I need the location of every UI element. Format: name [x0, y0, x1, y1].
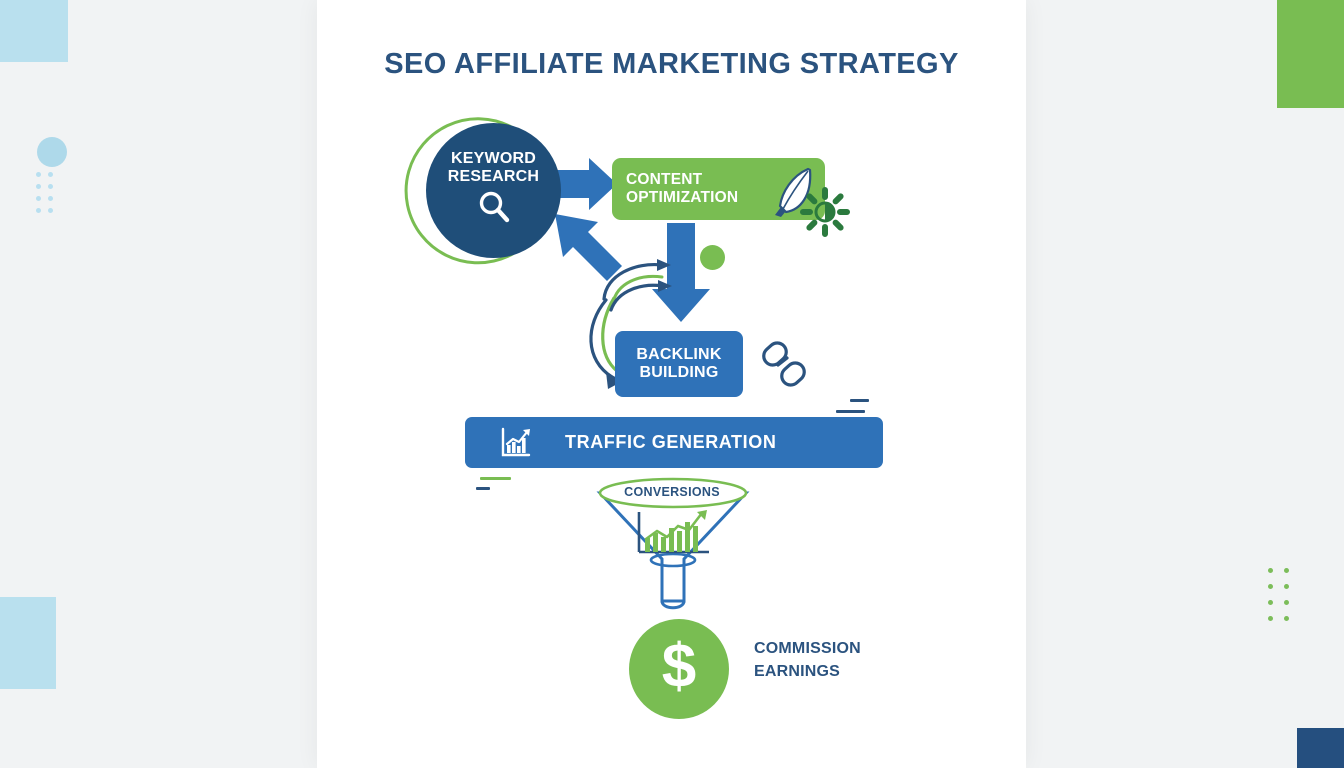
decoration-circle-left	[37, 137, 67, 167]
content-optimization-label-line2: OPTIMIZATION	[626, 189, 738, 207]
funnel-neck	[651, 554, 695, 566]
decoration-dash-navy-3	[476, 487, 490, 490]
decoration-square-top-right	[1277, 0, 1344, 108]
funnel-body	[600, 493, 746, 601]
dot	[1284, 568, 1289, 573]
dot	[36, 184, 41, 189]
dot	[48, 184, 53, 189]
decoration-square-bottom-left	[0, 597, 56, 689]
dot	[1284, 584, 1289, 589]
dot	[36, 208, 41, 213]
content-optimization-label-line1: CONTENT	[626, 171, 738, 189]
dot	[1284, 600, 1289, 605]
funnel-inner-chart	[639, 510, 709, 552]
commission-earnings-label-line1: COMMISSION	[754, 637, 861, 660]
decoration-accent-dot-green	[700, 245, 725, 270]
curve-inner-navy-arrowhead	[657, 259, 671, 271]
decoration-dash-navy-2	[836, 410, 865, 413]
backlink-building-label-line1: BACKLINK	[636, 346, 721, 364]
dot	[1268, 584, 1273, 589]
traffic-generation-label: TRAFFIC GENERATION	[565, 432, 776, 453]
dot	[48, 208, 53, 213]
dollar-sign-icon: $	[662, 636, 696, 698]
dot	[36, 172, 41, 177]
diagram-stage: KEYWORD RESEARCH CONTENT OPTIMIZATION	[317, 0, 1026, 768]
decoration-dash-green-1	[480, 477, 511, 480]
conversions-label: CONVERSIONS	[592, 485, 752, 499]
dot	[48, 196, 53, 201]
curve-second-navy-up	[611, 285, 663, 310]
node-backlink-building[interactable]: BACKLINK BUILDING	[615, 331, 743, 397]
funnel-spout	[662, 601, 684, 608]
decoration-square-bottom-right	[1297, 728, 1344, 768]
curve-inner-navy-up	[604, 265, 662, 299]
node-commission-earnings[interactable]: $	[629, 619, 729, 719]
magnifier-icon	[475, 188, 513, 231]
dot	[48, 172, 53, 177]
dot	[1284, 616, 1289, 621]
dot	[1268, 600, 1273, 605]
curve-inner-green-up	[613, 276, 662, 303]
dot	[1268, 616, 1273, 621]
arrow-content-to-backlink	[652, 223, 710, 322]
commission-earnings-label: COMMISSION EARNINGS	[754, 637, 861, 683]
curve-outer-navy-down	[591, 300, 612, 377]
decoration-square-top-left	[0, 0, 68, 62]
bar-chart-growth-icon	[499, 426, 533, 460]
commission-earnings-label-line2: EARNINGS	[754, 660, 861, 683]
backlink-building-label-line2: BUILDING	[636, 364, 721, 382]
decoration-dot-grid-left	[36, 172, 53, 213]
curve-second-navy-arrowhead	[658, 280, 672, 292]
dot	[36, 196, 41, 201]
decoration-dash-navy-1	[850, 399, 869, 402]
node-keyword-research[interactable]: KEYWORD RESEARCH	[426, 123, 561, 258]
arrow-feedback-to-keyword	[555, 214, 622, 281]
gear-icon	[799, 186, 851, 243]
keyword-research-label-line1: KEYWORD	[451, 150, 536, 168]
decoration-dot-grid-right	[1268, 568, 1289, 621]
keyword-research-label-line2: RESEARCH	[448, 168, 539, 186]
node-traffic-generation[interactable]: TRAFFIC GENERATION	[465, 417, 883, 468]
chain-link-icon	[756, 337, 812, 398]
dot	[1268, 568, 1273, 573]
